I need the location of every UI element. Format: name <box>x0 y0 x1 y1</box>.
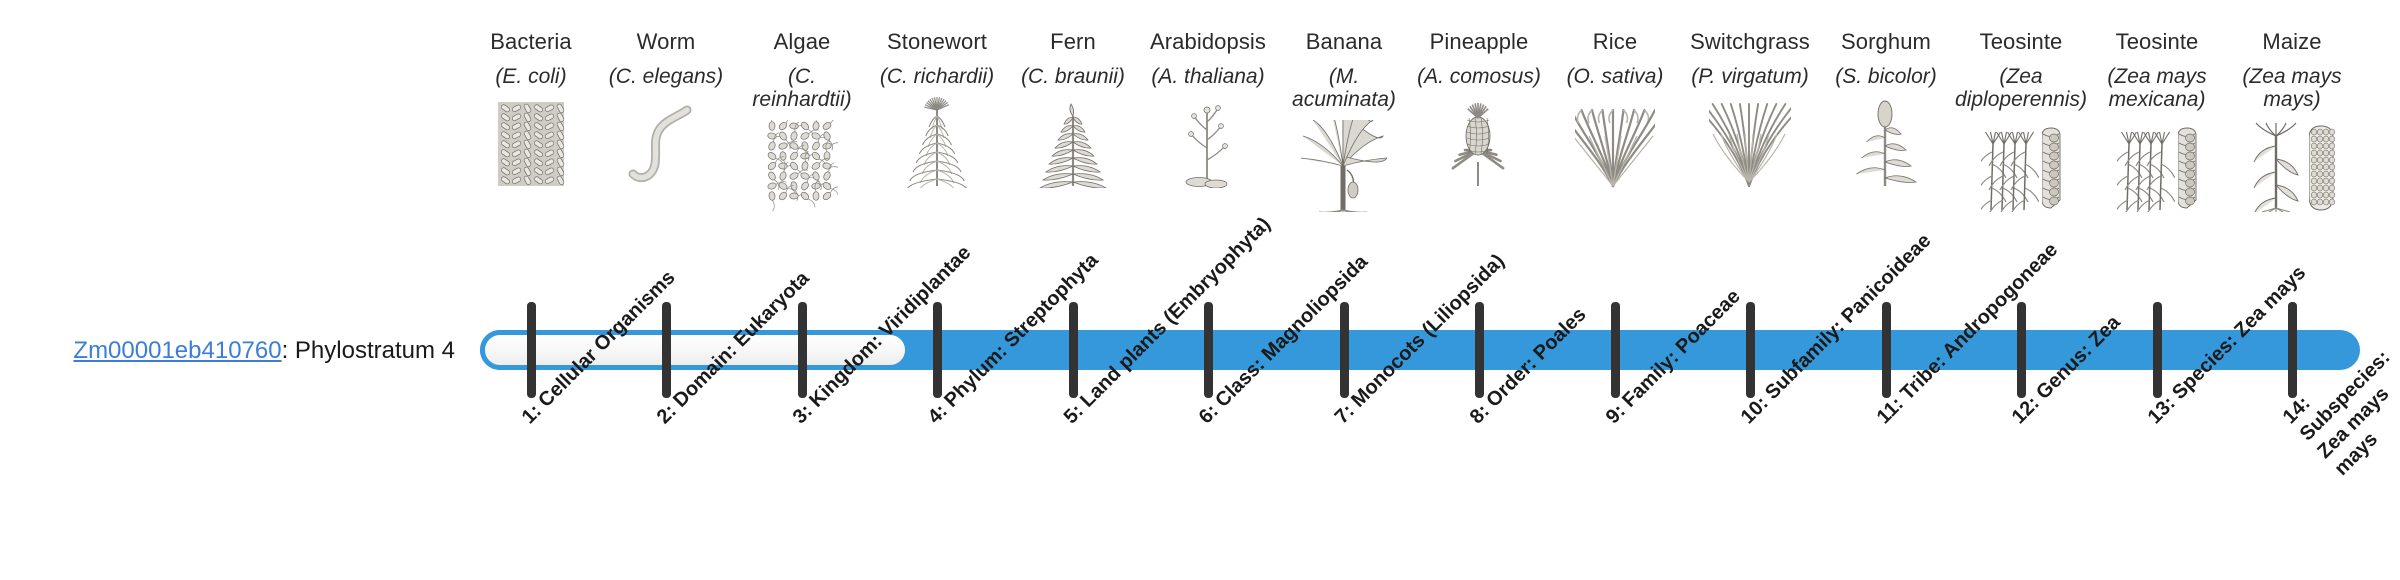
stratum-tick-10[interactable] <box>1746 302 1755 398</box>
species-latin-name: (A. thaliana) <box>1142 65 1274 89</box>
banana-illustration <box>1278 120 1410 212</box>
species-latin-name: (E. coli) <box>465 65 597 89</box>
species-common-name: Worm <box>600 30 732 55</box>
stratum-number: 10: <box>1737 392 1773 428</box>
phylostratum-value: Phylostratum 4 <box>295 337 455 364</box>
species-latin-name: (A. comosus) <box>1413 65 1545 89</box>
gene-label-separator: : <box>282 337 295 364</box>
species-common-name: Switchgrass <box>1684 30 1816 55</box>
species-column-algae: Algae(C. reinhardtii) <box>736 30 868 212</box>
stratum-tick-4[interactable] <box>933 302 942 398</box>
species-latin-name: (Zea mays mexicana) <box>2091 65 2223 112</box>
stratum-tick-9[interactable] <box>1611 302 1620 398</box>
stratum-tick-12[interactable] <box>2017 302 2026 398</box>
species-column-maize: Maize(Zea mays mays) <box>2226 30 2358 212</box>
stratum-number: 13: <box>2144 392 2180 428</box>
species-column-banana: Banana(M. acuminata) <box>1278 30 1410 212</box>
stonewort-illustration <box>871 96 1003 188</box>
species-latin-name: (C. braunii) <box>1007 65 1139 89</box>
species-latin-name: (M. acuminata) <box>1278 65 1410 112</box>
switchgrass-illustration <box>1684 96 1816 188</box>
stratum-tick-6[interactable] <box>1204 302 1213 398</box>
teosinte-illustration <box>1955 120 2087 212</box>
gene-id-link[interactable]: Zm00001eb410760 <box>73 337 281 364</box>
species-column-rice: Rice(O. sativa) <box>1549 30 1681 188</box>
species-latin-name: (Zea mays mays) <box>2226 65 2358 112</box>
phylostratum-diagram: Zm00001eb410760: Phylostratum 4 Bacteria… <box>0 0 2400 580</box>
species-column-stonewort: Stonewort(C. richardii) <box>871 30 1003 188</box>
species-latin-name: (C. richardii) <box>871 65 1003 89</box>
species-common-name: Algae <box>736 30 868 55</box>
species-latin-name: (C. elegans) <box>600 65 732 89</box>
rice-illustration <box>1549 96 1681 188</box>
stratum-tick-1[interactable] <box>527 302 536 398</box>
pineapple-illustration <box>1413 96 1545 188</box>
stratum-tick-14[interactable] <box>2288 302 2297 398</box>
species-column-teosinte: Teosinte(Zea mays mexicana) <box>2091 30 2223 212</box>
species-latin-name: (P. virgatum) <box>1684 65 1816 89</box>
stratum-tick-13[interactable] <box>2153 302 2162 398</box>
species-common-name: Pineapple <box>1413 30 1545 55</box>
stratum-tick-2[interactable] <box>662 302 671 398</box>
species-common-name: Maize <box>2226 30 2358 55</box>
species-column-sorghum: Sorghum(S. bicolor) <box>1820 30 1952 188</box>
species-column-pineapple: Pineapple(A. comosus) <box>1413 30 1545 188</box>
stratum-tick-8[interactable] <box>1475 302 1484 398</box>
species-common-name: Fern <box>1007 30 1139 55</box>
species-column-worm: Worm(C. elegans) <box>600 30 732 188</box>
fern-illustration <box>1007 96 1139 188</box>
species-latin-name: (Zea diploperennis) <box>1955 65 2087 112</box>
species-latin-name: (O. sativa) <box>1549 65 1681 89</box>
species-latin-name: (C. reinhardtii) <box>736 65 868 112</box>
species-column-arabidopsis: Arabidopsis(A. thaliana) <box>1142 30 1274 188</box>
stratum-tick-7[interactable] <box>1340 302 1349 398</box>
stratum-number: 12: <box>2008 392 2044 428</box>
stratum-number: 11: <box>1873 393 1908 428</box>
algae-illustration <box>736 120 868 212</box>
species-common-name: Stonewort <box>871 30 1003 55</box>
nematode-illustration <box>600 96 732 188</box>
species-common-name: Teosinte <box>2091 30 2223 55</box>
species-latin-name: (S. bicolor) <box>1820 65 1952 89</box>
species-common-name: Sorghum <box>1820 30 1952 55</box>
species-common-name: Bacteria <box>465 30 597 55</box>
teosinte-illustration <box>2091 120 2223 212</box>
species-common-name: Teosinte <box>1955 30 2087 55</box>
species-common-name: Arabidopsis <box>1142 30 1274 55</box>
gene-phylostratum-label: Zm00001eb410760: Phylostratum 4 <box>0 337 455 365</box>
species-column-switchgrass: Switchgrass(P. virgatum) <box>1684 30 1816 188</box>
maize-illustration <box>2226 120 2358 212</box>
bacteria-illustration <box>465 96 597 188</box>
arabidopsis-illustration <box>1142 96 1274 188</box>
sorghum-illustration <box>1820 96 1952 188</box>
species-column-bacteria: Bacteria(E. coli) <box>465 30 597 188</box>
stratum-tick-11[interactable] <box>1882 302 1891 398</box>
species-common-name: Rice <box>1549 30 1681 55</box>
species-column-teosinte: Teosinte(Zea diploperennis) <box>1955 30 2087 212</box>
stratum-tick-3[interactable] <box>798 302 807 398</box>
species-column-fern: Fern(C. braunii) <box>1007 30 1139 188</box>
stratum-tick-5[interactable] <box>1069 302 1078 398</box>
species-common-name: Banana <box>1278 30 1410 55</box>
